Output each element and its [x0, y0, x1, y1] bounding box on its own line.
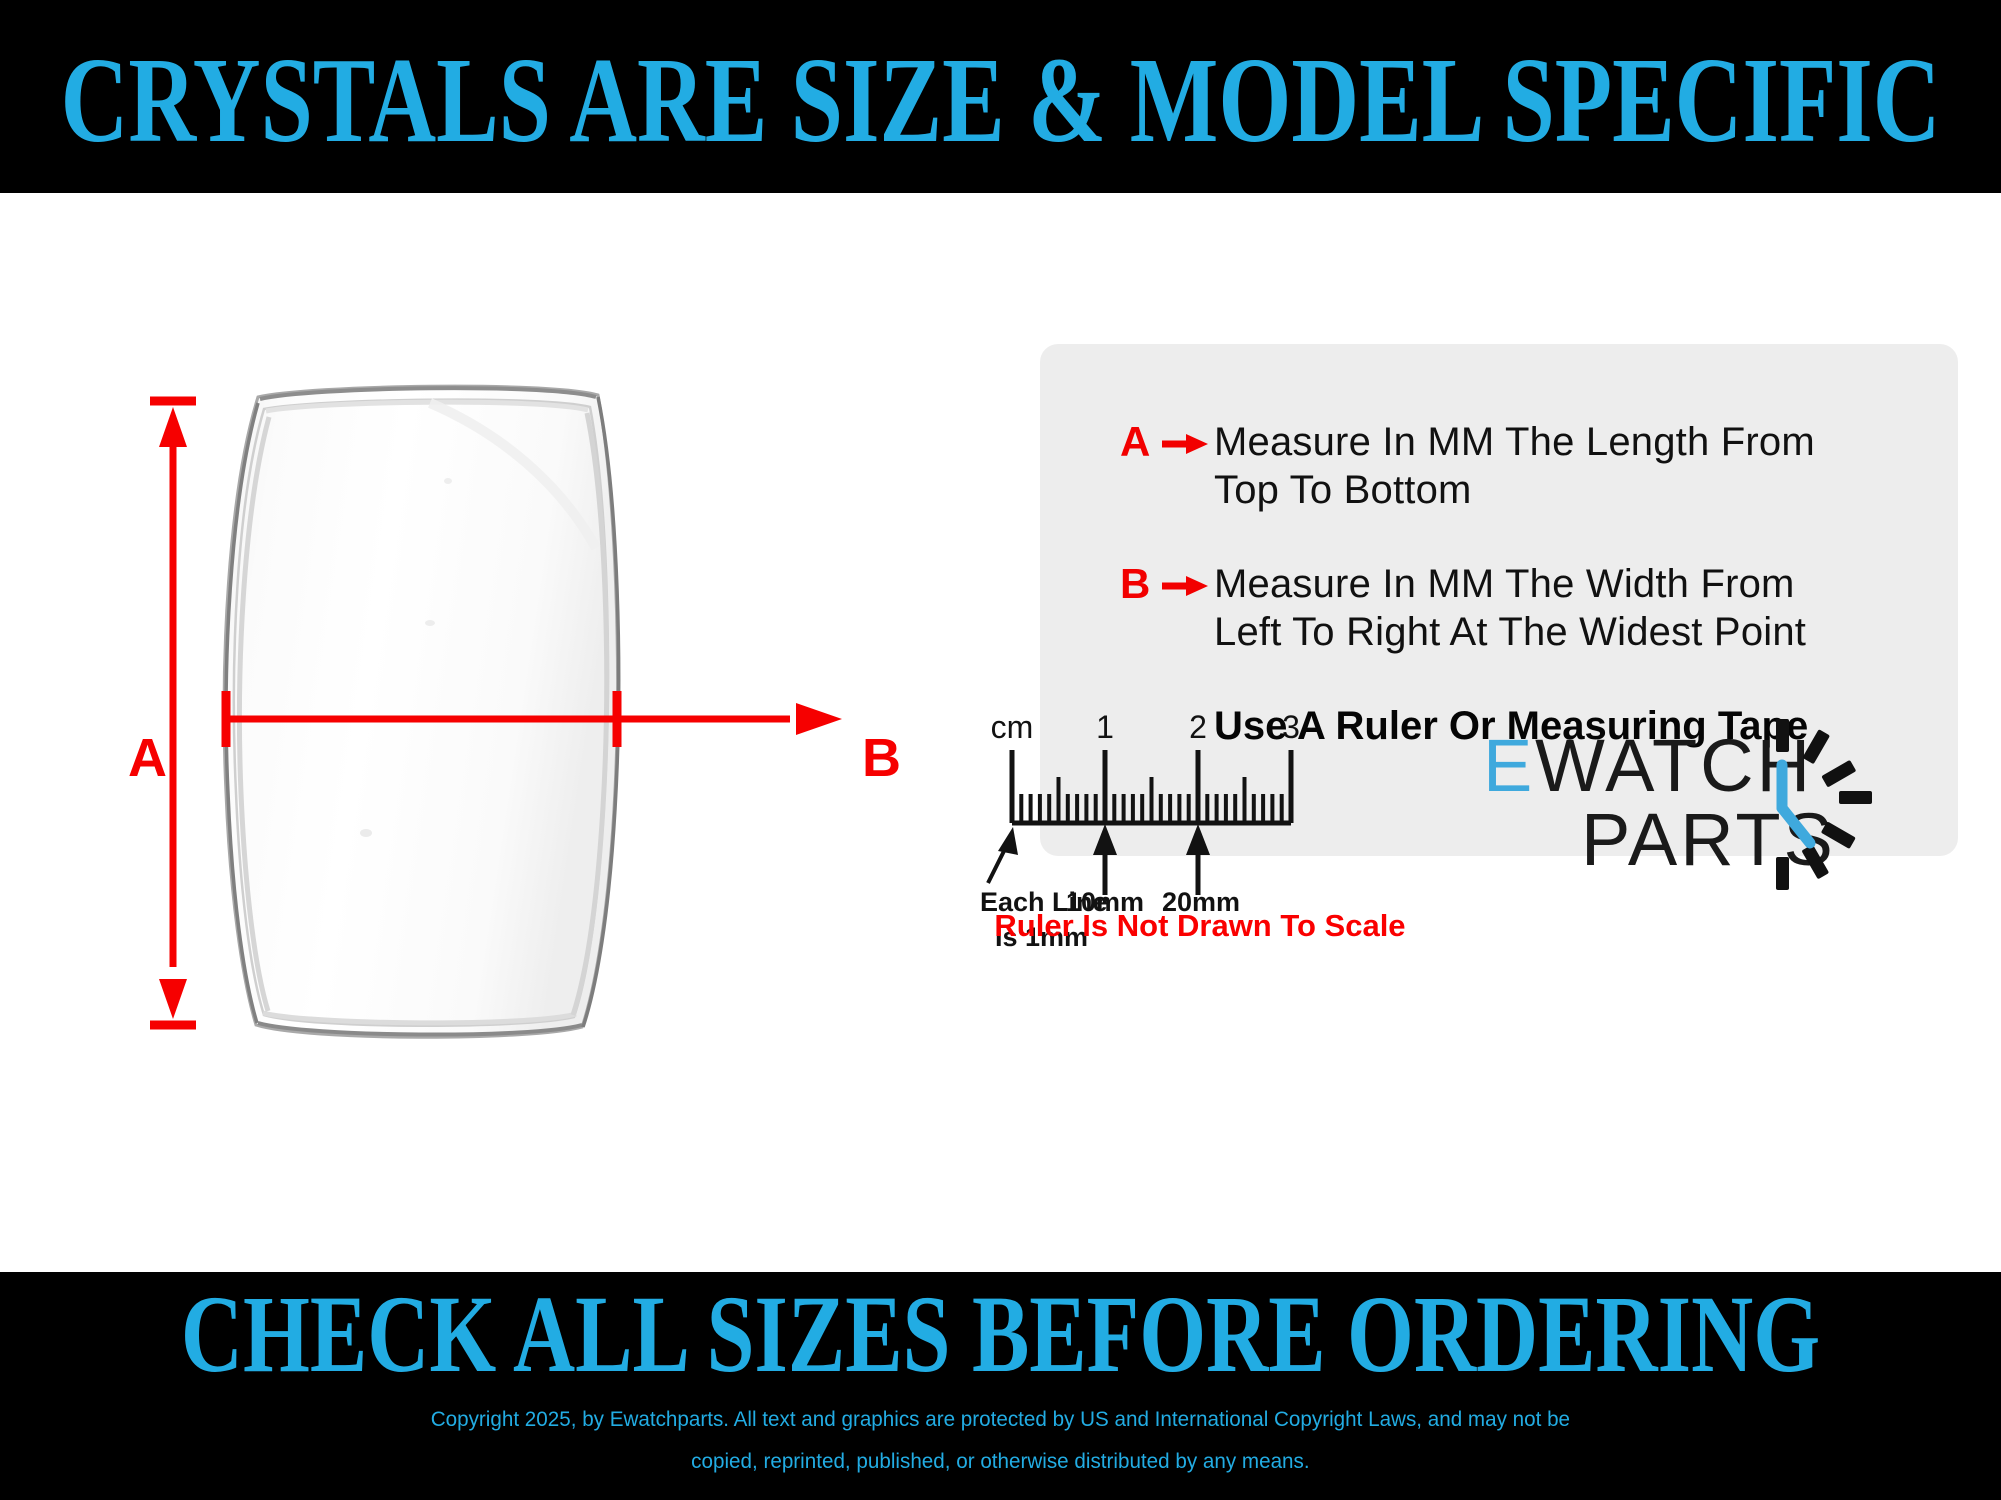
- copyright-line-2: copied, reprinted, published, or otherwi…: [431, 1441, 1570, 1483]
- instruction-text-b-line2: Left To Right At The Widest Point: [1214, 608, 1806, 656]
- arrow-20mm: [1186, 824, 1210, 895]
- instruction-text-b-line1: Measure In MM The Width From: [1214, 560, 1806, 608]
- instruction-text-a-line1: Measure In MM The Length From: [1214, 418, 1815, 466]
- ruler-labels: cm 1 2 3: [991, 709, 1300, 745]
- instruction-row-b: B Measure In MM The Width From Left To R…: [1120, 560, 1918, 656]
- instruction-text-a: Measure In MM The Length From Top To Bot…: [1214, 418, 1815, 514]
- each-line-callout-arrow: [988, 827, 1018, 883]
- watch-crystal-shape: [224, 386, 618, 1037]
- logo-word-watch: WATCH: [1535, 724, 1813, 807]
- logo-letter-e: E: [1483, 724, 1533, 807]
- instruction-text-b: Measure In MM The Width From Left To Rig…: [1214, 560, 1806, 656]
- ruler-scale-caption: Ruler Is Not Drawn To Scale: [980, 908, 1420, 944]
- footer-banner: CHECK ALL SIZES BEFORE ORDERING Copyrigh…: [0, 1272, 2001, 1500]
- header-headline: CRYSTALS ARE SIZE & MODEL SPECIFIC: [60, 39, 1940, 160]
- dimension-arrow-a: [150, 401, 196, 1025]
- header-banner: CRYSTALS ARE SIZE & MODEL SPECIFIC: [0, 0, 2001, 193]
- instruction-row-a: A Measure In MM The Length From Top To B…: [1120, 418, 1918, 514]
- right-arrow-icon: [1156, 418, 1214, 457]
- copyright-line-1: Copyright 2025, by Ewatchparts. All text…: [431, 1399, 1570, 1441]
- ruler-label-cm: cm: [991, 709, 1034, 745]
- instruction-rows: A Measure In MM The Length From Top To B…: [1120, 418, 1918, 750]
- ruler-label-3: 3: [1282, 709, 1300, 745]
- dimension-label-b: B: [862, 731, 901, 785]
- main-content-area: A B A Measure In MM The Length From Top …: [0, 193, 2001, 1272]
- copyright-notice: Copyright 2025, by Ewatchparts. All text…: [431, 1399, 1570, 1483]
- instruction-text-a-line2: Top To Bottom: [1214, 466, 1815, 514]
- footer-headline: CHECK ALL SIZES BEFORE ORDERING: [181, 1279, 1820, 1389]
- dimension-label-a: A: [128, 731, 167, 785]
- logo-word-parts: PARTS: [1581, 798, 1836, 881]
- instruction-key-a: A: [1120, 418, 1156, 466]
- right-arrow-icon: [1156, 560, 1214, 599]
- crystal-diagram: [130, 373, 970, 1133]
- arrow-10mm: [1093, 824, 1117, 895]
- ruler-label-1: 1: [1096, 709, 1114, 745]
- ruler-label-2: 2: [1189, 709, 1207, 745]
- ewatchparts-logo: E WATCH PARTS: [1483, 713, 1883, 903]
- instruction-key-b: B: [1120, 560, 1156, 608]
